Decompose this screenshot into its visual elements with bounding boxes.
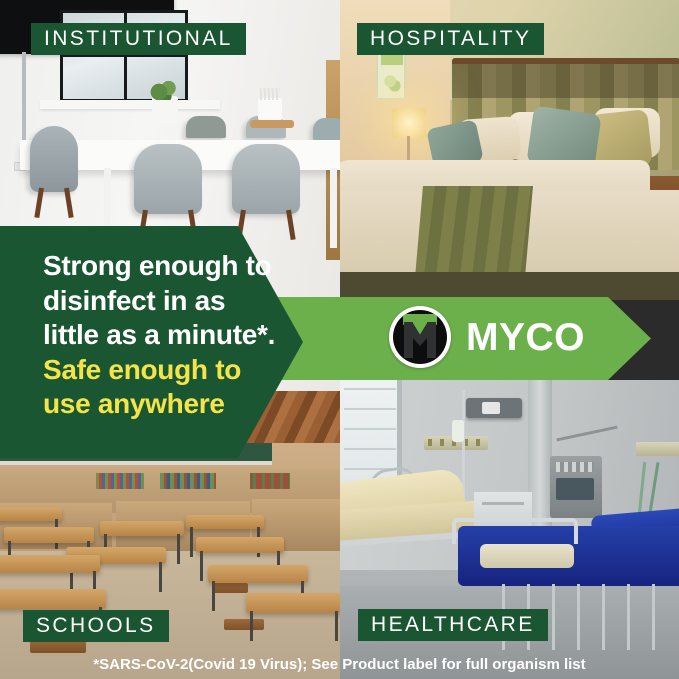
chair-near-right [232, 144, 300, 214]
student-desk [196, 537, 284, 553]
table-leg [330, 168, 337, 248]
student-chair [224, 619, 264, 630]
chair-far-right [313, 118, 340, 140]
ventilator-icon [550, 456, 602, 518]
bed-rail [452, 518, 578, 544]
footer-disclaimer: *SARS-CoV-2(Covid 19 Virus); See Product… [0, 649, 679, 679]
headline-line-3: little as a minute*. [43, 318, 309, 353]
student-desk [0, 555, 100, 573]
student-chair [212, 583, 248, 593]
wall-monitor-icon [466, 398, 522, 418]
headline-line-5: use anywhere [43, 387, 309, 422]
folded-linen [480, 544, 574, 568]
student-desk [0, 507, 62, 521]
headline-text: Strong enough to disinfect in as little … [43, 249, 309, 422]
books-row [160, 473, 216, 489]
bed-base [340, 272, 679, 300]
brand-wordmark: MYCO [466, 318, 585, 357]
wooden-tray [250, 120, 294, 128]
logo-disc [393, 310, 447, 364]
myco-shield-m-icon [389, 306, 451, 368]
chair-far-left [186, 116, 226, 138]
student-desk [186, 515, 264, 529]
category-tag-schools: SCHOOLS [23, 610, 169, 642]
headline-line-1: Strong enough to [43, 249, 309, 284]
student-desk [208, 565, 308, 583]
student-desk [4, 527, 94, 543]
chair-left [30, 126, 78, 192]
category-tag-institutional: INSTITUTIONAL [31, 23, 246, 55]
window-sill [40, 100, 220, 109]
category-tag-hospitality: HOSPITALITY [357, 23, 544, 55]
table-lamp-icon [392, 108, 426, 138]
headboard-shadow [452, 64, 679, 98]
books-row [96, 473, 144, 489]
cup-holder [258, 98, 282, 120]
student-desk [100, 521, 184, 536]
headline-line-2: disinfect in as [43, 284, 309, 319]
books-row [250, 473, 290, 489]
student-desk [0, 589, 106, 609]
student-desk [246, 593, 340, 613]
advertisement-banner: INSTITUTIONAL HOSPITALITY SCHOOLS HEALTH… [0, 0, 679, 679]
medical-gas-outlet [636, 442, 679, 456]
category-tag-healthcare: HEALTHCARE [358, 609, 548, 641]
potted-plant-icon [152, 96, 178, 126]
brand-lockup: MYCO [389, 306, 585, 368]
quadrant-schools-photo [0, 443, 340, 679]
chair-near-left [134, 144, 202, 214]
iv-bag-icon [452, 420, 464, 442]
headline-line-4: Safe enough to [43, 353, 309, 388]
